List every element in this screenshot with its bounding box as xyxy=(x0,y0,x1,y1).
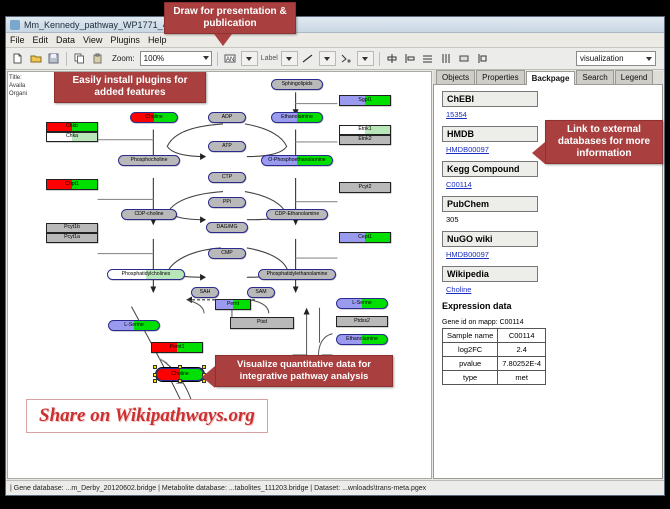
gene-node[interactable]: Sgpl1 xyxy=(339,95,391,106)
gene-node[interactable]: Pcyt2 xyxy=(339,182,391,193)
metabolite-node[interactable]: SAH xyxy=(191,287,219,298)
callout-dblinks-arrow xyxy=(532,142,545,164)
metabolite-node[interactable]: SAM xyxy=(247,287,275,298)
metabolite-node-label: SAH xyxy=(200,290,211,295)
side-panel-tabs: Objects Properties Backpage Search Legen… xyxy=(433,71,663,85)
metabolite-node-label: Sphingolipids xyxy=(282,82,313,87)
gene-node-label: Pemt1 xyxy=(170,345,185,350)
gene-node-label: Pisd xyxy=(257,320,267,325)
db-header-chebi: ChEBI xyxy=(442,91,538,107)
metabolite-node-label: CMP xyxy=(221,251,233,256)
metabolite-node[interactable]: Phosphatidylcholines xyxy=(107,269,185,280)
meta-availability-label: Availa xyxy=(9,82,27,90)
toolbar-separator xyxy=(66,52,67,66)
metabolite-node[interactable]: DAG/MG xyxy=(206,222,248,233)
menu-plugins[interactable]: Plugins xyxy=(110,35,140,45)
gene-node[interactable]: Pemt1 xyxy=(151,342,203,353)
metabolite-node[interactable]: Phosphocholine xyxy=(118,155,180,166)
gene-node-label: Pcyt1b xyxy=(64,225,80,230)
pathvisio-window: Mm_Kennedy_pathway_WP1771_45176.gpml Fil… xyxy=(5,16,665,496)
callout-plugins-text: Easily install plugins for added feature… xyxy=(72,75,187,98)
toolbar-separator-3 xyxy=(379,52,380,66)
meta-title-label: Title: xyxy=(9,74,27,82)
gene-node-label: Etnk2 xyxy=(358,137,371,142)
metabolite-node[interactable]: CTP xyxy=(208,172,246,183)
expr-key-type: type xyxy=(443,371,498,385)
selection-handle[interactable] xyxy=(178,365,182,369)
stack-icon[interactable] xyxy=(475,51,490,66)
meta-organism-label: Organi xyxy=(9,90,27,98)
metabolite-node-label: L-Serine xyxy=(124,323,144,328)
table-row: type met xyxy=(443,371,546,385)
callout-draw-text: Draw for presentation & publication xyxy=(173,6,286,29)
metabolite-node[interactable]: O-Phosphoethanolamine xyxy=(261,155,333,166)
tab-legend[interactable]: Legend xyxy=(615,70,654,84)
menu-edit[interactable]: Edit xyxy=(33,35,49,45)
menu-bar: File Edit Data View Plugins Help xyxy=(6,33,664,48)
copy-icon[interactable] xyxy=(72,51,87,66)
metabolite-node[interactable]: CDP-choline xyxy=(121,209,177,220)
connector-dropdown[interactable] xyxy=(357,51,374,66)
line-dropdown[interactable] xyxy=(319,51,336,66)
metabolite-node[interactable]: ADP xyxy=(208,112,246,123)
expr-val-log2fc: 2.4 xyxy=(498,343,546,357)
table-row: pvalue 7.80252E-4 xyxy=(443,357,546,371)
gene-node-label: Cept1 xyxy=(358,235,372,240)
metabolite-node-label: O-Phosphoethanolamine xyxy=(268,158,325,163)
zoom-combobox[interactable]: 100% xyxy=(140,51,212,66)
gene-node-label: Sgpl1 xyxy=(358,98,371,103)
metabolite-node[interactable]: Sphingolipids xyxy=(271,79,323,90)
gene-node[interactable]: Ptdss2 xyxy=(336,316,388,327)
visualization-combobox[interactable]: visualization xyxy=(576,51,656,66)
tab-backpage[interactable]: Backpage xyxy=(526,71,576,85)
metabolite-node-label: CDP-Ethanolamine xyxy=(275,212,319,217)
callout-dblinks: Link to external databases for more info… xyxy=(545,120,663,164)
gene-node-label: Pcyt1a xyxy=(64,235,80,240)
chevron-down-icon xyxy=(324,57,330,61)
menu-data[interactable]: Data xyxy=(56,35,75,45)
metabolite-node[interactable]: Ethanolamine xyxy=(271,112,323,123)
text-box-icon[interactable]: AN xyxy=(223,51,238,66)
share-banner: Share on Wikipathways.org xyxy=(26,399,268,433)
metabolite-node-label: ADP xyxy=(222,115,233,120)
callout-draw-arrow xyxy=(214,34,232,46)
canvas-metadata: Title: Availa Organi xyxy=(9,74,27,98)
gene-node-label: Chkb xyxy=(66,124,78,129)
pathway-canvas[interactable]: Title: Availa Organi xyxy=(7,71,432,479)
expr-key-log2fc: log2FC xyxy=(443,343,498,357)
expr-val-sample-name: C00114 xyxy=(498,329,546,343)
metabolite-node[interactable]: Ethanolamine xyxy=(336,334,388,345)
gene-node[interactable]: Pisd xyxy=(230,317,294,329)
menu-help[interactable]: Help xyxy=(148,35,167,45)
selection-handle[interactable] xyxy=(153,379,157,383)
metabolite-node-label: Choline xyxy=(171,372,189,377)
metabolite-node-label: Phosphatidylethanolamine xyxy=(267,272,328,277)
db-header-pubchem: PubChem xyxy=(442,196,538,212)
db-link-kegg[interactable]: C00114 xyxy=(446,180,662,189)
db-header-nugo: NuGO wiki xyxy=(442,231,538,247)
metabolite-node[interactable]: PPi xyxy=(208,197,246,208)
db-link-nugo[interactable]: HMDB00097 xyxy=(446,250,662,259)
db-link-wikipedia[interactable]: Choline xyxy=(446,285,662,294)
db-link-chebi[interactable]: 15354 xyxy=(446,110,662,119)
gene-node-label: Pcyt2 xyxy=(359,185,372,190)
gene-node-label: Pemt xyxy=(227,302,239,307)
db-header-wikipedia: Wikipedia xyxy=(442,266,538,282)
status-bar-text: | Gene database: ...m_Derby_20120602.bri… xyxy=(10,485,426,492)
db-header-hmdb: HMDB xyxy=(442,126,538,142)
metabolite-node-label: SAM xyxy=(255,290,266,295)
metabolite-node[interactable]: CDP-Ethanolamine xyxy=(266,209,328,220)
gene-node-label: Chka xyxy=(66,134,78,139)
db-header-kegg: Kegg Compound xyxy=(442,161,538,177)
gene-node[interactable]: Chpt1 xyxy=(46,179,98,190)
metabolite-node-label: CTP xyxy=(222,175,232,180)
metabolite-node[interactable]: L-Serine xyxy=(336,298,388,309)
gene-id-line: Gene id on mapp: C00114 xyxy=(442,319,662,326)
expr-key-pvalue: pvalue xyxy=(443,357,498,371)
align-center-icon[interactable] xyxy=(385,51,400,66)
label-dropdown[interactable] xyxy=(281,51,298,66)
gene-node[interactable]: Pemt xyxy=(215,299,251,310)
metabolite-node-label: ATP xyxy=(222,144,232,149)
table-row: log2FC 2.4 xyxy=(443,343,546,357)
selection-handle[interactable] xyxy=(178,379,182,383)
gene-node-label: Etnk1 xyxy=(358,127,371,132)
zoom-label: Zoom: xyxy=(112,54,135,63)
visualization-value: visualization xyxy=(580,54,624,63)
metabolite-node-label: L-Serine xyxy=(352,301,372,306)
metabolite-node[interactable]: Choline xyxy=(130,112,178,123)
metabolite-node[interactable]: L-Serine xyxy=(108,320,160,331)
gene-node-label: Chpt1 xyxy=(65,182,79,187)
menu-view[interactable]: View xyxy=(83,35,102,45)
metabolite-node-label: CDP-choline xyxy=(134,212,163,217)
metabolite-node-label: Choline xyxy=(145,115,163,120)
gene-node[interactable]: Etnk1 xyxy=(339,125,391,135)
metabolite-node-label: DAG/MG xyxy=(216,225,237,230)
menu-file[interactable]: File xyxy=(10,35,25,45)
gene-node[interactable]: Pcyt1b xyxy=(46,223,98,233)
gene-node[interactable]: Chkb xyxy=(46,122,98,132)
distribute-vertical-icon[interactable] xyxy=(421,51,436,66)
toolbar: Zoom: 100% AN Label xyxy=(6,48,664,70)
callout-dblinks-text: Link to external databases for more info… xyxy=(558,124,650,159)
gene-node[interactable]: Etnk2 xyxy=(339,135,391,145)
text-box-dropdown[interactable] xyxy=(241,51,258,66)
metabolite-node[interactable]: Phosphatidylethanolamine xyxy=(258,269,336,280)
svg-text:AN: AN xyxy=(226,57,234,63)
callout-visualize-text: Visualize quantitative data for integrat… xyxy=(237,359,371,382)
db-value-pubchem: 305 xyxy=(446,215,662,224)
expr-val-pvalue: 7.80252E-4 xyxy=(498,357,546,371)
callout-visualize: Visualize quantitative data for integrat… xyxy=(215,355,393,387)
zoom-value: 100% xyxy=(144,54,164,63)
tab-objects[interactable]: Objects xyxy=(436,70,475,84)
metabolite-node-label: Phosphatidylcholines xyxy=(122,272,171,277)
status-bar: | Gene database: ...m_Derby_20120602.bri… xyxy=(6,480,664,495)
metabolite-node-label: Ethanolamine xyxy=(281,115,313,120)
tab-properties[interactable]: Properties xyxy=(476,70,524,84)
gene-node[interactable]: Cept1 xyxy=(339,232,391,243)
tab-search[interactable]: Search xyxy=(576,70,613,84)
group-icon[interactable] xyxy=(457,51,472,66)
metabolite-node-label: PPi xyxy=(223,200,231,205)
table-row: Sample name C00114 xyxy=(443,329,546,343)
title-bar: Mm_Kennedy_pathway_WP1771_45176.gpml xyxy=(6,17,664,33)
label-tool-label: Label xyxy=(261,55,278,62)
gene-node-label: Ptdss2 xyxy=(354,319,370,324)
chevron-down-icon xyxy=(362,57,368,61)
metabolite-node[interactable]: ATP xyxy=(208,141,246,152)
chevron-down-icon xyxy=(203,56,209,60)
line-icon[interactable] xyxy=(301,51,316,66)
chevron-down-icon xyxy=(646,57,652,61)
callout-visualize-arrow xyxy=(202,366,215,388)
chevron-down-icon xyxy=(286,57,292,61)
arrow-connector-icon[interactable] xyxy=(339,51,354,66)
expr-val-type: met xyxy=(498,371,546,385)
save-icon[interactable] xyxy=(46,51,61,66)
paste-icon[interactable] xyxy=(90,51,105,66)
share-banner-text: Share on Wikipathways.org xyxy=(39,405,255,427)
metabolite-node-label: Ethanolamine xyxy=(346,337,378,342)
align-left-icon[interactable] xyxy=(403,51,418,66)
callout-plugins: Easily install plugins for added feature… xyxy=(54,71,206,103)
callout-draw: Draw for presentation & publication xyxy=(164,2,296,34)
gene-node[interactable]: Chka xyxy=(46,132,98,142)
distribute-horizontal-icon[interactable] xyxy=(439,51,454,66)
selection-handle[interactable] xyxy=(153,373,157,377)
new-file-icon[interactable] xyxy=(10,51,25,66)
metabolite-node[interactable]: CMP xyxy=(208,248,246,259)
expression-table: Sample name C00114 log2FC 2.4 pvalue 7.8… xyxy=(442,328,546,385)
metabolite-node-label: Phosphocholine xyxy=(131,158,168,163)
expr-key-sample-name: Sample name xyxy=(443,329,498,343)
selection-handle[interactable] xyxy=(153,365,157,369)
open-folder-icon[interactable] xyxy=(28,51,43,66)
toolbar-separator-2 xyxy=(217,52,218,66)
chevron-down-icon xyxy=(246,57,252,61)
app-icon xyxy=(10,20,20,30)
expression-data-heading: Expression data xyxy=(442,301,662,311)
gene-node[interactable]: Pcyt1a xyxy=(46,233,98,243)
